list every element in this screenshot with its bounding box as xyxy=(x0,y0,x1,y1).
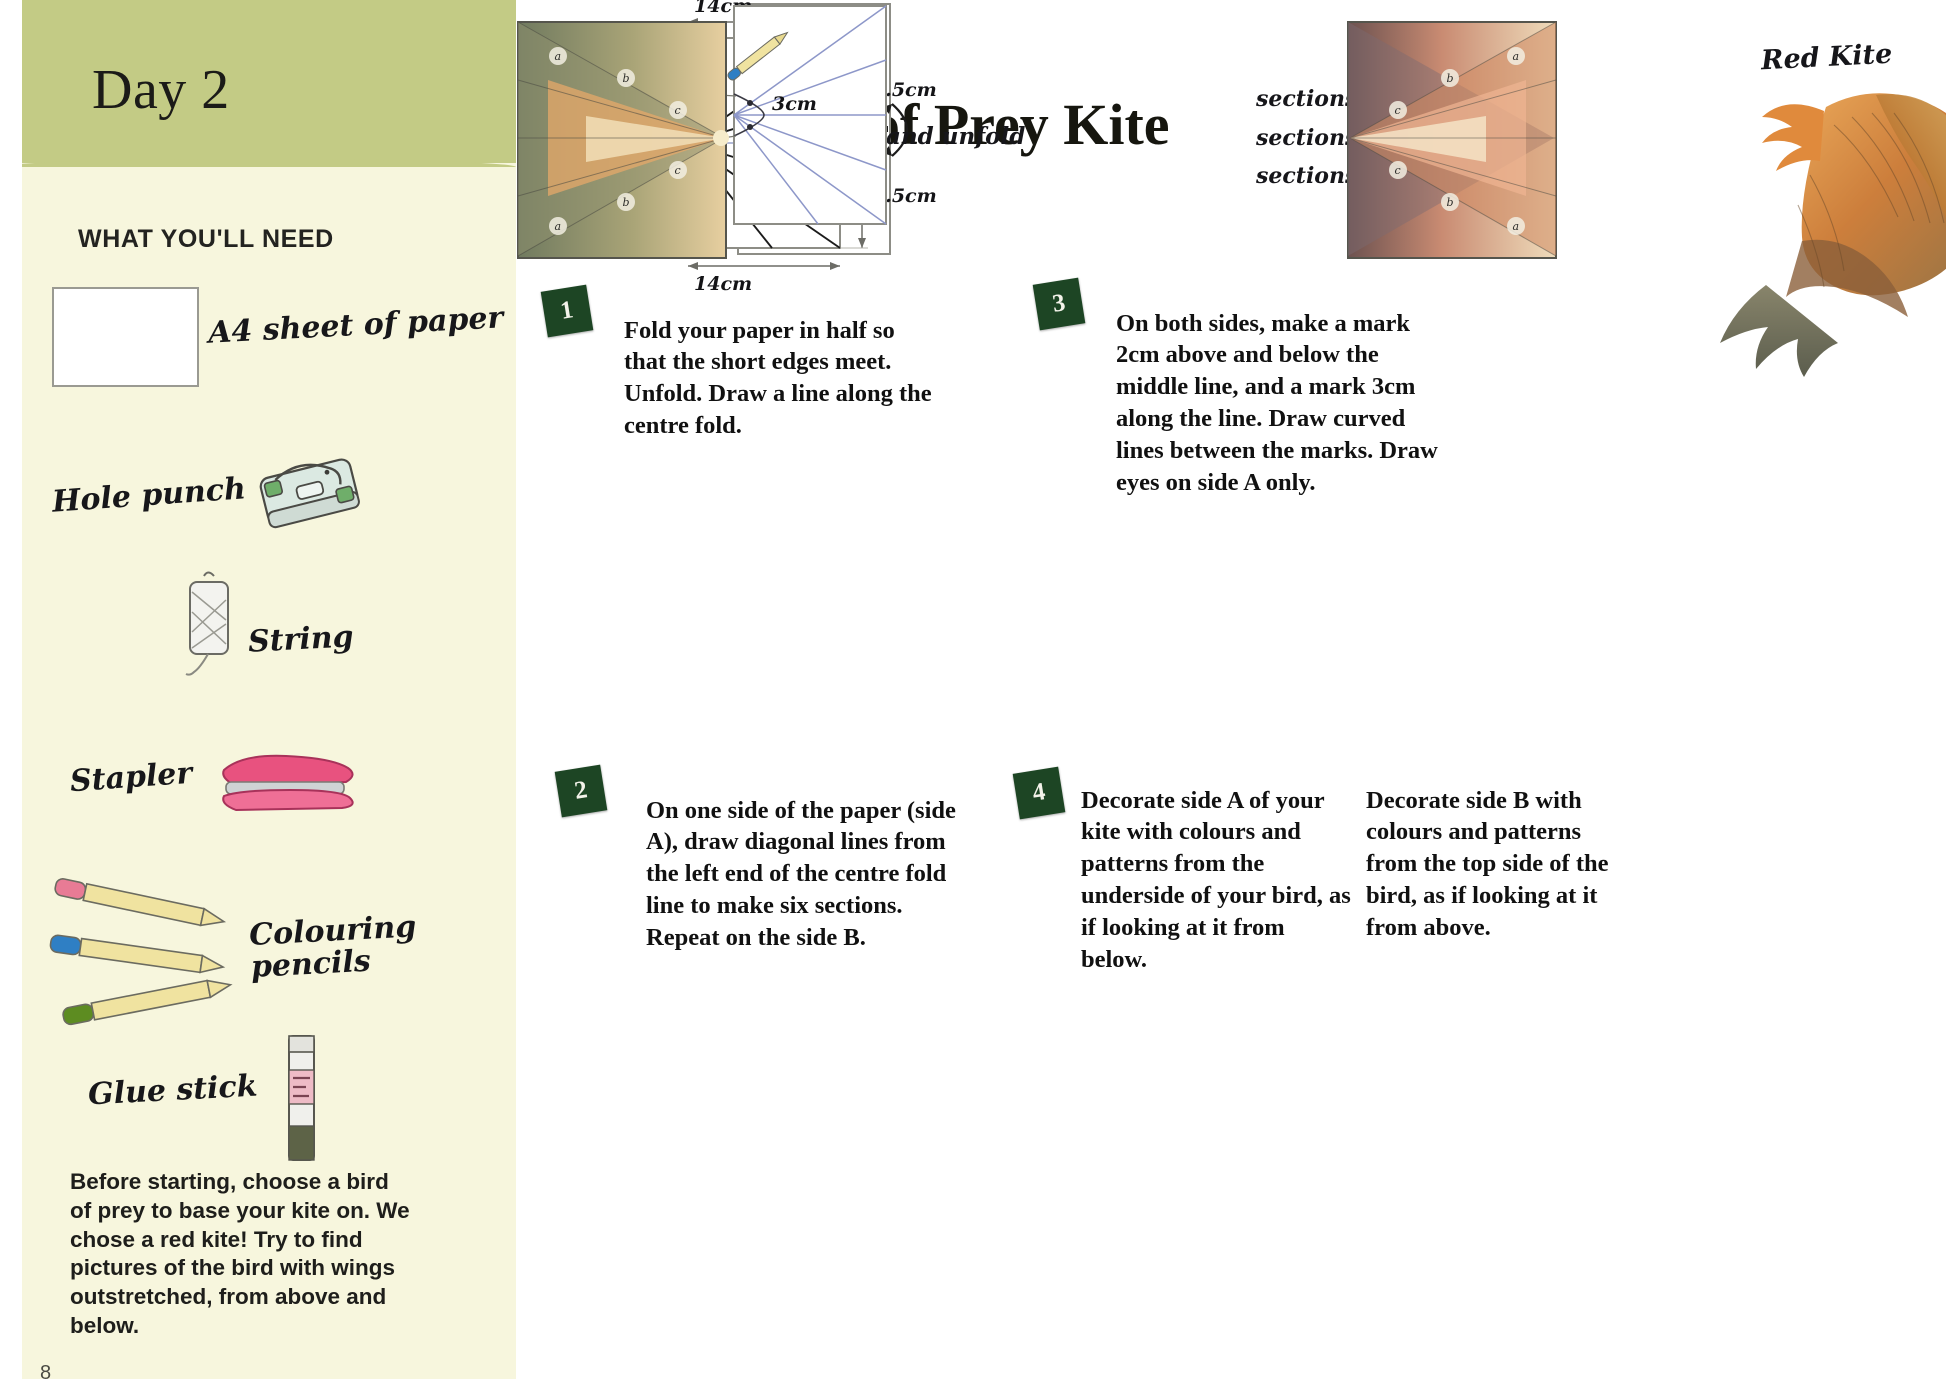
sidebar-green-band xyxy=(0,0,516,163)
step-4-badge: 4 xyxy=(1016,770,1062,816)
section-mark-b-a-bottom: a xyxy=(1513,220,1520,233)
day-title: Day 2 xyxy=(92,58,230,122)
step-2-caption: On one side of the paper (side A), draw … xyxy=(646,795,966,954)
page-number: 8 xyxy=(40,1362,51,1379)
step-4-number: 4 xyxy=(1013,767,1066,820)
section-mark-b-c-top: c xyxy=(1395,104,1401,117)
measure-along: 3cm xyxy=(772,93,817,115)
step-2-number: 2 xyxy=(555,765,608,818)
step-3-badge: 3 xyxy=(1036,281,1082,327)
stapler-icon xyxy=(212,742,362,822)
instructions-main: Make a Bird of Prey Kite xyxy=(516,0,1946,1379)
section-mark-b-b-bottom: b xyxy=(1447,196,1454,209)
red-kite-illustration xyxy=(1706,55,1946,410)
supply-label-glue-stick: Glue stick xyxy=(87,1069,258,1113)
section-mark-a-bottom: a xyxy=(555,220,562,233)
step-4-caption-side-b: Decorate side B with colours and pattern… xyxy=(1366,785,1631,944)
supply-label-hole-punch: Hole punch xyxy=(51,471,247,519)
paper-icon xyxy=(52,287,199,387)
kite-side-b-illustration: a b c c b a xyxy=(1346,20,1558,260)
supply-label-stapler: Stapler xyxy=(69,756,193,799)
step-2: 14cm 14cm 7.5cm 7.5cm 2 xyxy=(516,420,1006,900)
step-4: a b c c b a sections a = wing tips secti… xyxy=(516,1320,1396,1379)
section-mark-b-b-top: b xyxy=(1447,72,1454,85)
what-you-need-heading: WHAT YOU'LL NEED xyxy=(78,225,334,254)
supply-label-string: String xyxy=(247,619,354,659)
section-mark-c-bottom: c xyxy=(675,164,681,177)
materials-sidebar: Day 2 WHAT YOU'LL NEED A4 sheet of paper… xyxy=(0,0,516,1379)
kite-side-a-illustration: a b c c b a xyxy=(516,20,728,260)
intro-paragraph: Before starting, choose a bird of prey t… xyxy=(70,1168,410,1341)
section-mark-b-a-top: a xyxy=(1513,50,1520,63)
supply-label-paper: A4 sheet of paper xyxy=(207,300,504,350)
colouring-pencils-icon xyxy=(44,878,254,1038)
step-4-caption-side-a: Decorate side A of your kite with colour… xyxy=(1081,785,1351,976)
supply-label-colouring-pencils: Colouring pencils xyxy=(248,906,516,985)
section-mark-b-c-bottom: c xyxy=(1395,164,1401,177)
section-mark-b-top: b xyxy=(623,72,630,85)
spread-page: Day 2 WHAT YOU'LL NEED A4 sheet of paper… xyxy=(0,0,1946,1379)
hole-punch-icon xyxy=(250,440,370,550)
step-3-caption: On both sides, make a mark 2cm above and… xyxy=(1116,308,1446,499)
section-mark-a-top: a xyxy=(555,50,562,63)
section-mark-c-top: c xyxy=(675,104,681,117)
section-mark-b-bottom: b xyxy=(623,196,630,209)
string-spool-icon xyxy=(168,568,248,688)
step-1-caption: Fold your paper in half so that the shor… xyxy=(624,315,934,442)
step-3-number: 3 xyxy=(1033,278,1086,331)
page-left-margin xyxy=(0,0,22,1379)
step-3: 2cm 2cm 3cm 3 On both sides, make a mark… xyxy=(516,900,1156,1320)
step-2-badge: 2 xyxy=(558,768,604,814)
glue-stick-icon xyxy=(276,1030,324,1165)
